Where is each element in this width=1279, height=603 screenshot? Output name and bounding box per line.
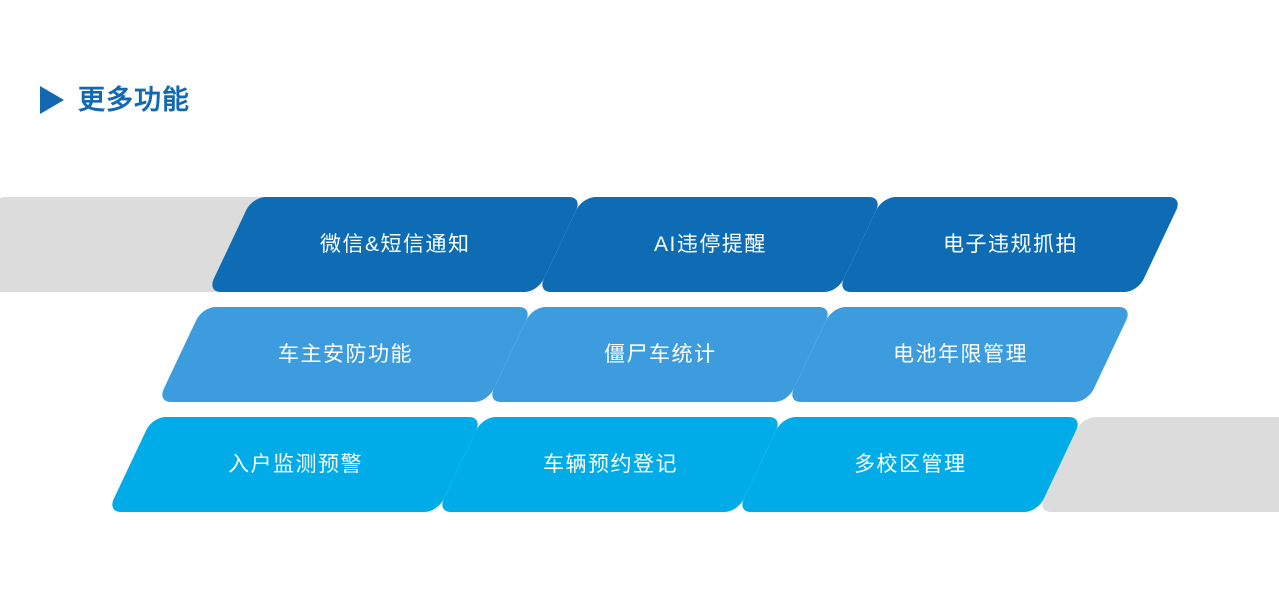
feature-card-label: 电子违规抓拍 bbox=[943, 234, 1078, 255]
feature-card-label: 微信&短信通知 bbox=[320, 234, 471, 255]
feature-card-label: 多校区管理 bbox=[854, 454, 967, 475]
feature-card-label: 僵尸车统计 bbox=[604, 344, 717, 365]
feature-grid: 微信&短信通知AI违停提醒电子违规抓拍车主安防功能僵尸车统计电池年限管理入户监测… bbox=[0, 0, 1279, 603]
feature-card[interactable]: 电子违规抓拍 bbox=[838, 197, 1183, 292]
feature-card[interactable]: 电池年限管理 bbox=[788, 307, 1133, 402]
feature-card[interactable]: AI违停提醒 bbox=[538, 197, 883, 292]
feature-card-label: 车主安防功能 bbox=[278, 344, 413, 365]
feature-card-label: 车辆预约登记 bbox=[543, 454, 678, 475]
slide-canvas: 更多功能 微信&短信通知AI违停提醒电子违规抓拍车主安防功能僵尸车统计电池年限管… bbox=[0, 0, 1279, 603]
feature-card[interactable]: 微信&短信通知 bbox=[208, 197, 583, 292]
feature-card[interactable]: 僵尸车统计 bbox=[488, 307, 833, 402]
feature-card[interactable]: 车主安防功能 bbox=[158, 307, 533, 402]
feature-card-label: AI违停提醒 bbox=[654, 234, 767, 255]
feature-card[interactable]: 车辆预约登记 bbox=[438, 417, 783, 512]
feature-card[interactable]: 入户监测预警 bbox=[108, 417, 483, 512]
feature-card[interactable]: 多校区管理 bbox=[738, 417, 1083, 512]
feature-card-label: 电池年限管理 bbox=[893, 344, 1028, 365]
feature-card-label: 入户监测预警 bbox=[228, 454, 363, 475]
